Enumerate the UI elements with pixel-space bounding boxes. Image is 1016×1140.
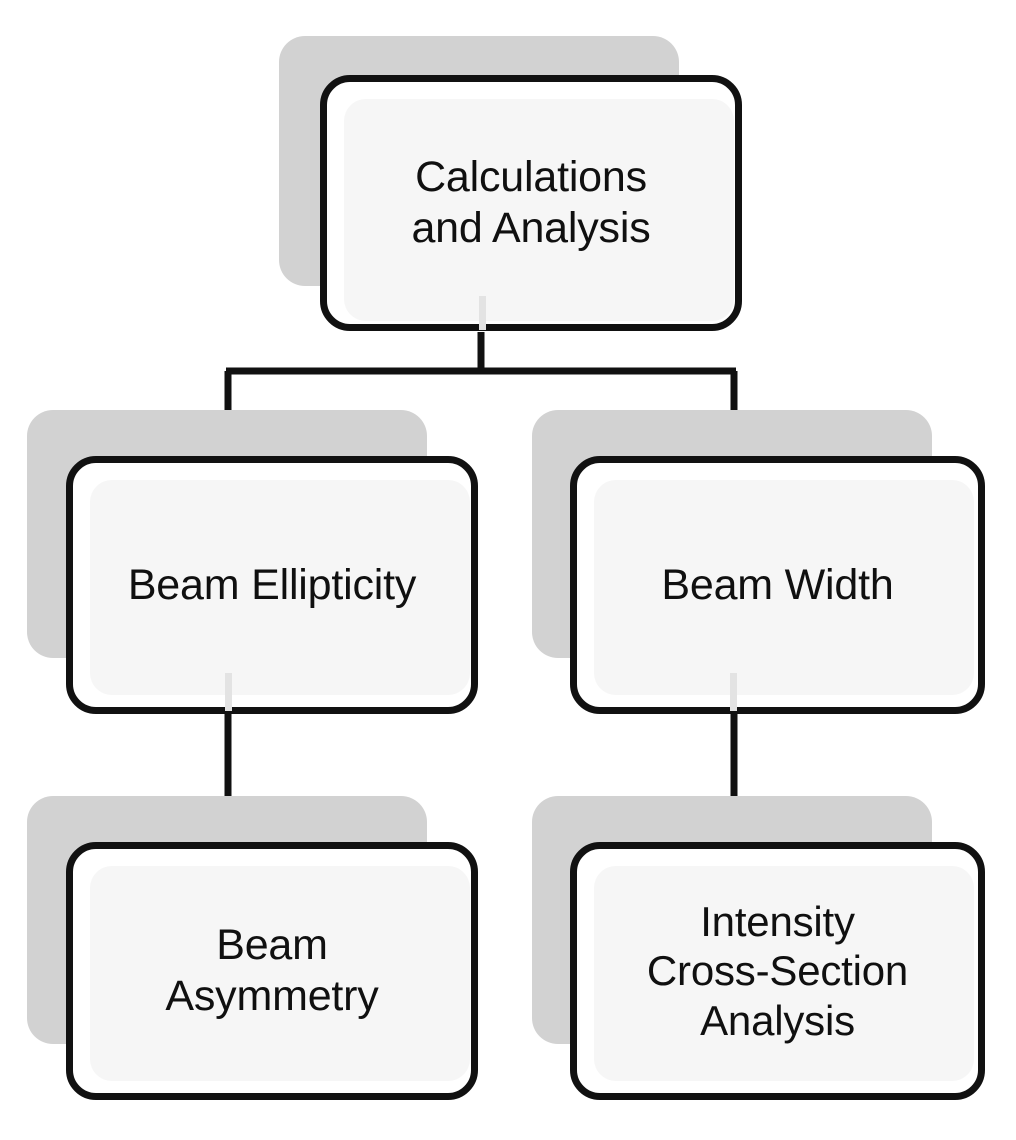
node-label: Beam Width — [661, 560, 893, 611]
node-card[interactable]: Beam Ellipticity — [66, 456, 478, 714]
node-calculations-and-analysis[interactable]: Calculations and Analysis — [313, 68, 749, 338]
node-card[interactable]: Beam Width — [570, 456, 985, 714]
node-card[interactable]: Calculations and Analysis — [320, 75, 742, 331]
node-card[interactable]: Intensity Cross-Section Analysis — [570, 842, 985, 1100]
flowchart-canvas: Calculations and Analysis Beam Elliptici… — [0, 0, 1016, 1140]
node-label: Calculations and Analysis — [411, 152, 650, 253]
node-label: Beam Asymmetry — [165, 920, 378, 1021]
node-beam-ellipticity[interactable]: Beam Ellipticity — [59, 449, 485, 721]
node-bottom-stub — [479, 296, 486, 330]
node-label: Beam Ellipticity — [128, 560, 416, 611]
node-label: Intensity Cross-Section Analysis — [647, 897, 908, 1046]
node-card[interactable]: Beam Asymmetry — [66, 842, 478, 1100]
node-bottom-stub — [225, 673, 232, 711]
node-intensity-cross-section-analysis[interactable]: Intensity Cross-Section Analysis — [563, 835, 992, 1107]
node-bottom-stub — [730, 673, 737, 711]
node-beam-asymmetry[interactable]: Beam Asymmetry — [59, 835, 485, 1107]
node-beam-width[interactable]: Beam Width — [563, 449, 992, 721]
